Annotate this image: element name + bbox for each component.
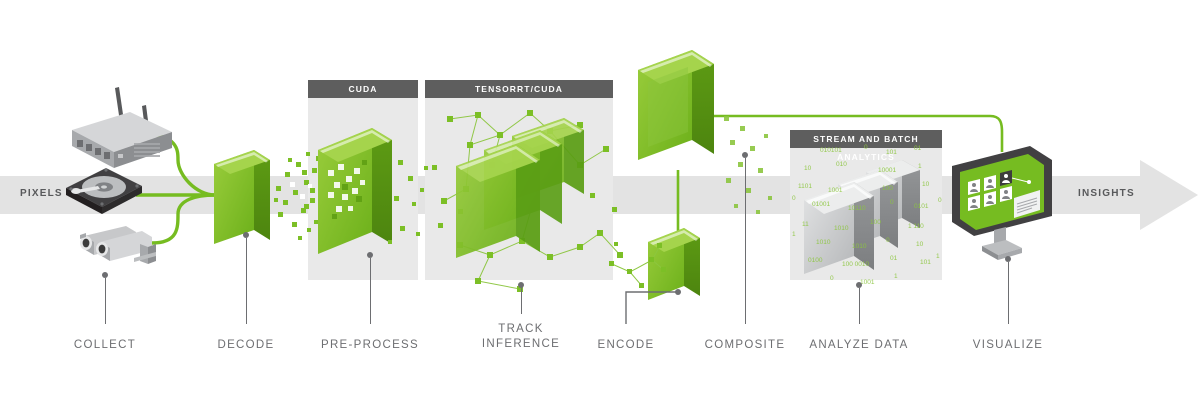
pointer-line-analyze-data xyxy=(859,288,860,324)
hard-drive-icon xyxy=(62,160,146,222)
svg-text:10: 10 xyxy=(916,241,924,248)
svg-text:101: 101 xyxy=(920,259,931,266)
svg-text:100: 100 xyxy=(870,219,881,226)
svg-text:1101: 1101 xyxy=(798,183,812,190)
caption-collect: COLLECT xyxy=(45,338,165,353)
pointer-line-composite xyxy=(745,158,746,324)
caption-visualize: VISUALIZE xyxy=(948,338,1068,353)
panel-tensorrt-cuda-header: TENSORRT/CUDA xyxy=(425,80,613,98)
svg-text:0: 0 xyxy=(864,144,868,151)
svg-text:0: 0 xyxy=(830,275,834,282)
svg-text:0: 0 xyxy=(792,195,796,202)
caption-encode: ENCODE xyxy=(566,338,686,353)
svg-text:01: 01 xyxy=(914,145,922,152)
svg-text:010: 010 xyxy=(836,161,847,168)
caption-inference: TRACK INFERENCE xyxy=(461,322,581,352)
svg-text:100: 100 xyxy=(882,185,893,192)
pointer-line-encode xyxy=(596,288,686,328)
binary-digits-overlay: 0101010 10101 10010 100011 11011001 1001… xyxy=(790,140,950,300)
pointer-line-collect xyxy=(105,278,106,324)
svg-text:101: 101 xyxy=(886,149,897,156)
insights-label: INSIGHTS xyxy=(1078,188,1135,199)
pointer-line-visualize xyxy=(1008,262,1009,324)
svg-text:1010: 1010 xyxy=(852,243,867,250)
caption-pre-process: PRE-PROCESS xyxy=(310,338,430,353)
svg-text:10: 10 xyxy=(922,181,930,188)
green-slab-large-icon xyxy=(636,48,728,174)
neural-network-slabs-icon xyxy=(452,118,622,298)
caption-composite: COMPOSITE xyxy=(685,338,805,353)
security-camera-icon xyxy=(62,222,162,276)
svg-text:1010: 1010 xyxy=(834,225,849,232)
svg-text:1: 1 xyxy=(936,253,940,260)
insights-arrow-head xyxy=(1140,160,1198,230)
pointer-line-pre-process xyxy=(370,258,371,324)
caption-decode: DECODE xyxy=(186,338,306,353)
pointer-line-decode xyxy=(246,238,247,324)
pipeline-diagram: PIXELS INSIGHTS CUDA TENSORRT/CUDA STREA… xyxy=(0,0,1200,412)
svg-text:10110: 10110 xyxy=(848,205,866,212)
svg-text:1: 1 xyxy=(792,231,796,238)
svg-text:10: 10 xyxy=(804,165,812,172)
svg-text:0: 0 xyxy=(938,197,942,204)
panel-cuda-header: CUDA xyxy=(308,80,418,98)
svg-text:010101: 010101 xyxy=(820,147,842,154)
svg-text:1 110: 1 110 xyxy=(908,223,924,230)
svg-text:1010: 1010 xyxy=(816,239,831,246)
svg-text:1: 1 xyxy=(894,273,898,280)
router-icon xyxy=(58,84,182,170)
svg-text:0: 0 xyxy=(890,199,894,206)
pixels-label: PIXELS xyxy=(20,188,63,199)
svg-text:11: 11 xyxy=(802,221,809,228)
composite-pixel-stream xyxy=(716,110,786,220)
svg-text:01001: 01001 xyxy=(812,201,830,208)
pointer-line-inference xyxy=(521,288,522,314)
svg-text:0100: 0100 xyxy=(808,257,823,264)
svg-text:0101: 0101 xyxy=(914,203,929,210)
monitor-icon xyxy=(944,142,1060,258)
svg-text:1001: 1001 xyxy=(860,279,875,286)
svg-text:0: 0 xyxy=(886,237,890,244)
svg-text:1: 1 xyxy=(918,163,922,170)
svg-text:100 0010: 100 0010 xyxy=(842,261,869,268)
preprocess-pixel-scatter xyxy=(300,130,430,280)
svg-text:1001: 1001 xyxy=(828,187,843,194)
svg-text:01: 01 xyxy=(890,255,898,262)
svg-text:10001: 10001 xyxy=(878,167,896,174)
caption-analyze-data: ANALYZE DATA xyxy=(799,338,919,353)
